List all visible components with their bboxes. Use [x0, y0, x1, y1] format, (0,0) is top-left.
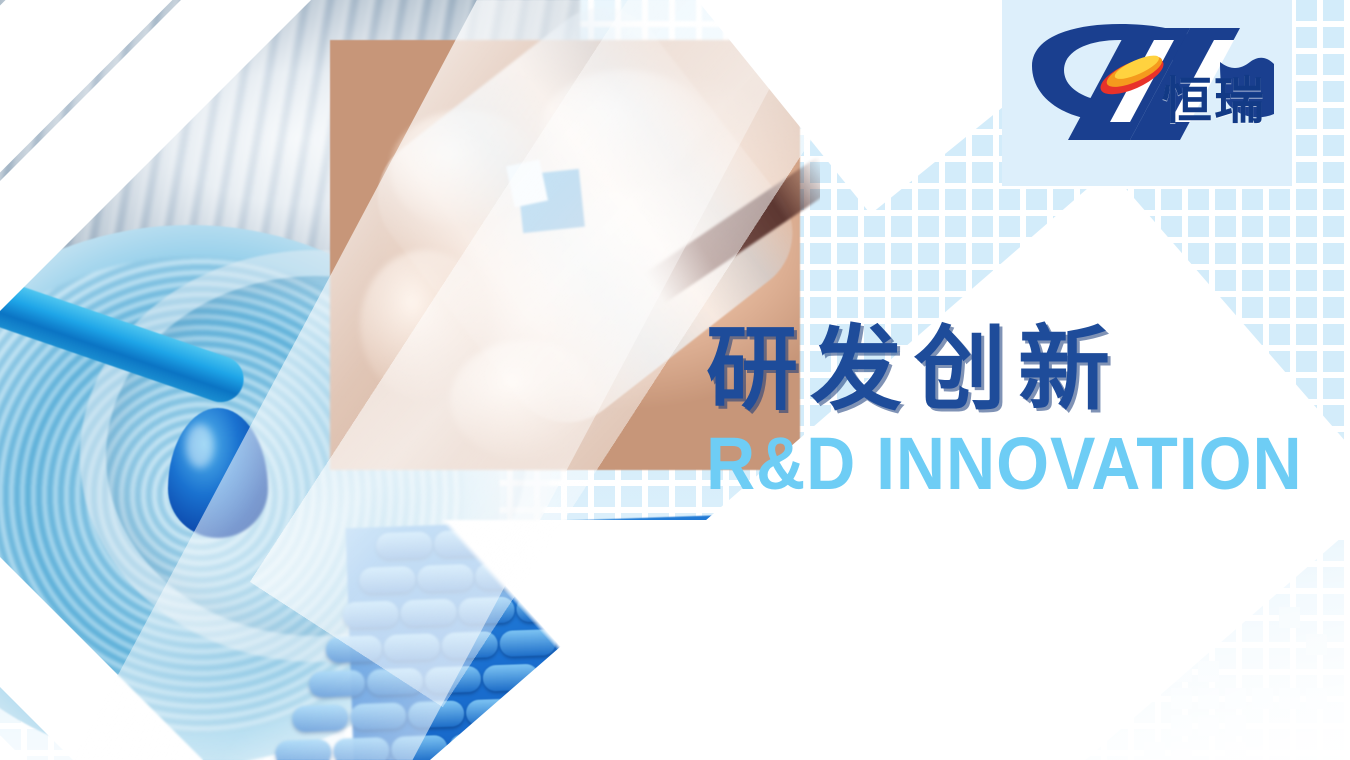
logo-brand-text: 恒瑞	[1162, 76, 1266, 126]
rd-innovation-banner: 恒瑞 研发创新 R&D INNOVATION	[0, 0, 1350, 760]
page-title-en: R&D INNOVATION	[706, 427, 1258, 501]
page-title-cn: 研发创新	[706, 322, 1306, 419]
headline: 研发创新 R&D INNOVATION	[706, 322, 1306, 501]
logo-plate: 恒瑞	[1002, 0, 1292, 186]
logo-inner: 恒瑞	[1024, 22, 1274, 162]
